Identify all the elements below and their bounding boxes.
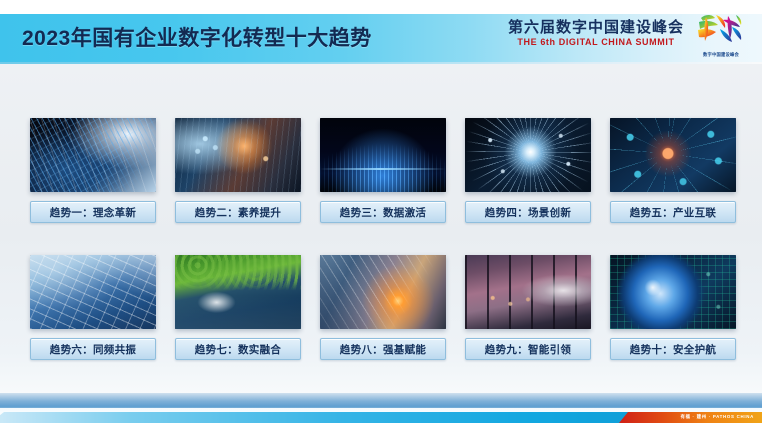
trend-card[interactable]: 趋势八：强基赋能 (320, 255, 446, 360)
trend-label: 趋势九：智能引领 (465, 338, 591, 360)
thumb-robot-city-window (465, 255, 591, 329)
trend-card[interactable]: 趋势十：安全护航 (610, 255, 736, 360)
footer-ribbon-red: 有福 · 建州 · PATHOS CHINA (619, 412, 762, 423)
thumb-solar-panels (30, 255, 156, 329)
trend-label: 趋势三：数据激活 (320, 201, 446, 223)
slide-canvas: 2023年国有企业数字化转型十大趋势 第六届数字中国建设峰会 THE 6th D… (0, 0, 762, 429)
thumb-iot-cloud-hub (610, 118, 736, 192)
thumb-globe-circuit-board (610, 255, 736, 329)
trend-card[interactable]: 趋势五：产业互联 (610, 118, 736, 223)
trend-label: 趋势十：安全护航 (610, 338, 736, 360)
thumb-forest-river-aerial (175, 255, 301, 329)
trend-card[interactable]: 趋势六：同频共振 (30, 255, 156, 360)
trend-label: 趋势七：数实融合 (175, 338, 301, 360)
summit-logo-glyph (692, 11, 750, 45)
summit-title-en: THE 6th DIGITAL CHINA SUMMIT (508, 38, 684, 47)
trend-label: 趋势二：素养提升 (175, 201, 301, 223)
trend-label: 趋势八：强基赋能 (320, 338, 446, 360)
summit-lockup: 第六届数字中国建设峰会 THE 6th DIGITAL CHINA SUMMIT (508, 20, 684, 47)
trend-label: 趋势四：场景创新 (465, 201, 591, 223)
thumb-blue-data-waveform (320, 118, 446, 192)
trend-card[interactable]: 趋势一：理念革新 (30, 118, 156, 223)
trend-grid: 趋势一：理念革新 趋势二：素养提升 趋势三：数据激活 (30, 118, 736, 360)
footer-ribbon-blue (0, 412, 630, 423)
trend-label: 趋势一：理念革新 (30, 201, 156, 223)
trend-card[interactable]: 趋势七：数实融合 (175, 255, 301, 360)
trend-card[interactable]: 趋势三：数据激活 (320, 118, 446, 223)
thumb-engineer-tablet-robot-arm (175, 118, 301, 192)
trend-card[interactable]: 趋势二：素养提升 (175, 118, 301, 223)
trend-card[interactable]: 趋势四：场景创新 (465, 118, 591, 223)
summit-logo-sub-cn: 数字中国建设峰会 (692, 52, 750, 57)
footer: 有福 · 建州 · PATHOS CHINA (0, 393, 762, 429)
page-title: 2023年国有企业数字化转型十大趋势 (22, 22, 372, 52)
trend-label: 趋势六：同频共振 (30, 338, 156, 360)
thumb-binary-data-staircase (30, 118, 156, 192)
trend-label: 趋势五：产业互联 (610, 201, 736, 223)
footer-ribbon-text: 有福 · 建州 · PATHOS CHINA (680, 414, 754, 420)
header-underline (0, 62, 762, 64)
thumb-light-burst-network (465, 118, 591, 192)
thumb-skyscraper-sunset (320, 255, 446, 329)
summit-title-cn: 第六届数字中国建设峰会 (508, 20, 684, 35)
trend-card[interactable]: 趋势九：智能引领 (465, 255, 591, 360)
digital-china-summit-logo-icon: 数字中国建设峰会 (692, 11, 750, 57)
